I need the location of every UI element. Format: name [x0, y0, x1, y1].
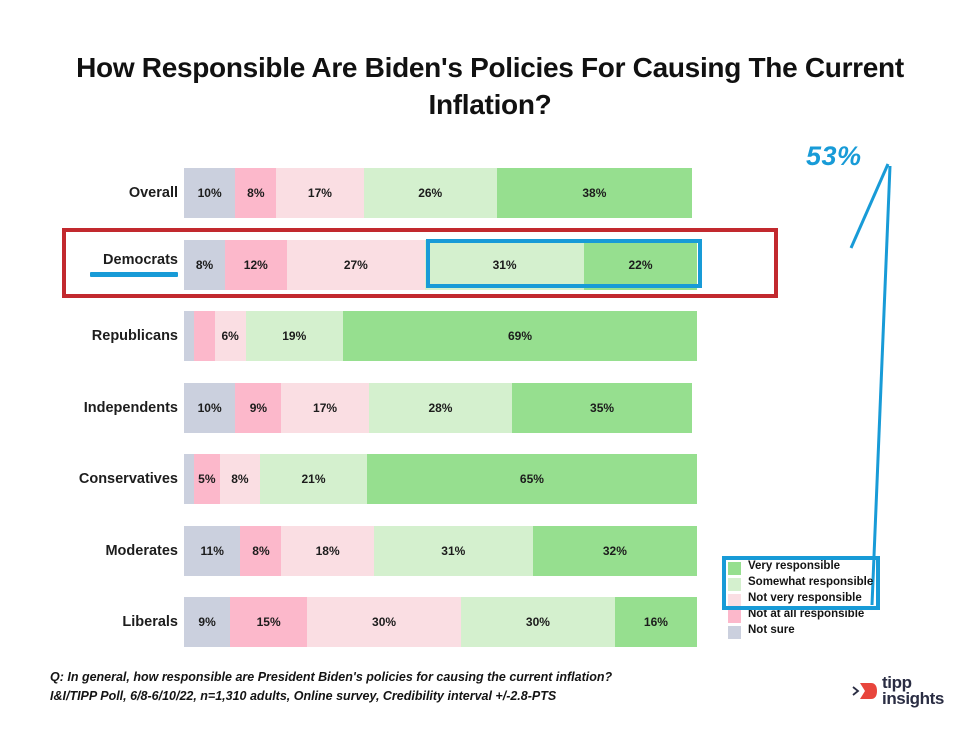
segment-value-label: 31%: [441, 544, 465, 558]
bar-segment-not_very_responsible: 8%: [220, 454, 261, 504]
bar-segment-not_sure: 10%: [184, 168, 235, 218]
chart-container: How Responsible Are Biden's Policies For…: [0, 0, 975, 731]
chart-row: Independents10%9%17%28%35%: [0, 375, 975, 447]
segment-value-label: 11%: [201, 544, 224, 558]
bar-segment-very_responsible: 65%: [367, 454, 697, 504]
legend-swatch-not_at_all_responsible: [728, 610, 741, 623]
segment-value-label: 9%: [198, 615, 215, 629]
segment-value-label: 65%: [520, 472, 544, 486]
legend-item-somewhat_responsible[interactable]: Somewhat responsible: [728, 576, 890, 591]
segment-value-label: 18%: [316, 544, 340, 558]
bar-segment-very_responsible: 35%: [512, 383, 692, 433]
stacked-bar: 9%15%30%30%16%: [184, 597, 697, 647]
bar-segment-very_responsible: 32%: [533, 526, 697, 576]
legend-swatch-somewhat_responsible: [728, 578, 741, 591]
legend-swatch-not_very_responsible: [728, 594, 741, 607]
row-label-text: Liberals: [122, 614, 178, 630]
bar-segment-somewhat_responsible: 31%: [425, 240, 584, 290]
row-label-republicans: Republicans: [0, 311, 178, 361]
page-title: How Responsible Are Biden's Policies For…: [60, 50, 920, 124]
chart-row: Republicans6%19%69%: [0, 303, 975, 375]
segment-value-label: 10%: [198, 401, 222, 415]
bar-segment-very_responsible: 22%: [584, 240, 697, 290]
segment-value-label: 31%: [493, 258, 517, 272]
segment-value-label: 8%: [231, 472, 248, 486]
segment-value-label: 9%: [250, 401, 267, 415]
segment-value-label: 69%: [508, 329, 532, 343]
bar-segment-not_at_all_responsible: 15%: [230, 597, 307, 647]
bar-segment-not_sure: 8%: [184, 240, 225, 290]
row-label-text: Independents: [84, 400, 178, 416]
row-label-underline: [90, 272, 178, 277]
bar-segment-not_at_all_responsible: 5%: [194, 454, 219, 504]
legend-item-very_responsible[interactable]: Very responsible: [728, 560, 890, 575]
bar-segment-not_very_responsible: 17%: [281, 383, 368, 433]
segment-value-label: 12%: [244, 258, 268, 272]
segment-value-label: 6%: [221, 329, 238, 343]
segment-value-label: 16%: [644, 615, 668, 629]
bar-segment-not_sure: 9%: [184, 597, 230, 647]
segment-value-label: 10%: [198, 186, 222, 200]
bar-segment-not_very_responsible: 17%: [276, 168, 363, 218]
row-label-independents: Independents: [0, 383, 178, 433]
bar-segment-not_sure: [184, 311, 194, 361]
bar-segment-not_at_all_responsible: 8%: [235, 168, 276, 218]
bar-segment-not_at_all_responsible: [194, 311, 215, 361]
segment-value-label: 28%: [428, 401, 452, 415]
stacked-bar: 11%8%18%31%32%: [184, 526, 697, 576]
footnote: Q: In general, how responsible are Presi…: [50, 668, 710, 706]
segment-value-label: 35%: [590, 401, 614, 415]
bar-segment-somewhat_responsible: 30%: [461, 597, 615, 647]
segment-value-label: 22%: [629, 258, 653, 272]
bar-segment-somewhat_responsible: 31%: [374, 526, 533, 576]
segment-value-label: 21%: [301, 472, 325, 486]
stacked-bar: 8%12%27%31%22%: [184, 240, 697, 290]
segment-value-label: 5%: [198, 472, 215, 486]
bar-segment-not_very_responsible: 6%: [215, 311, 246, 361]
chart-legend: Very responsibleSomewhat responsibleNot …: [728, 560, 890, 640]
bar-segment-not_at_all_responsible: 9%: [235, 383, 281, 433]
logo-text: tipp insights: [882, 675, 944, 706]
segment-value-label: 17%: [308, 186, 332, 200]
bar-segment-not_very_responsible: 18%: [281, 526, 373, 576]
bar-segment-not_very_responsible: 30%: [307, 597, 461, 647]
bar-segment-somewhat_responsible: 28%: [369, 383, 513, 433]
segment-value-label: 15%: [257, 615, 281, 629]
segment-value-label: 17%: [313, 401, 337, 415]
footnote-source: I&I/TIPP Poll, 6/8-6/10/22, n=1,310 adul…: [50, 687, 710, 706]
segment-value-label: 8%: [247, 186, 264, 200]
row-label-liberals: Liberals: [0, 597, 178, 647]
bar-segment-somewhat_responsible: 26%: [364, 168, 497, 218]
legend-swatch-not_sure: [728, 626, 741, 639]
bar-segment-very_responsible: 38%: [497, 168, 692, 218]
bar-segment-not_sure: [184, 454, 194, 504]
tipp-arrow-icon: [852, 681, 878, 701]
row-label-text: Democrats: [103, 252, 178, 268]
legend-item-not_sure[interactable]: Not sure: [728, 624, 890, 639]
tipp-insights-logo: tipp insights: [852, 675, 944, 706]
row-label-overall: Overall: [0, 168, 178, 218]
segment-value-label: 30%: [372, 615, 396, 629]
row-label-text: Conservatives: [79, 471, 178, 487]
segment-value-label: 8%: [252, 544, 269, 558]
legend-label: Somewhat responsible: [748, 576, 873, 590]
footnote-question: Q: In general, how responsible are Presi…: [50, 668, 710, 687]
stacked-bar: 6%19%69%: [184, 311, 697, 361]
bar-segment-not_very_responsible: 27%: [287, 240, 426, 290]
bar-segment-not_sure: 10%: [184, 383, 235, 433]
segment-value-label: 32%: [603, 544, 627, 558]
row-label-democrats: Democrats: [0, 240, 178, 290]
segment-value-label: 27%: [344, 258, 368, 272]
bar-segment-somewhat_responsible: 21%: [260, 454, 367, 504]
bar-segment-not_at_all_responsible: 12%: [225, 240, 287, 290]
bar-segment-not_at_all_responsible: 8%: [240, 526, 281, 576]
legend-item-not_at_all_responsible[interactable]: Not at all responsible: [728, 608, 890, 623]
segment-value-label: 19%: [282, 329, 306, 343]
row-label-text: Moderates: [105, 543, 178, 559]
row-label-text: Overall: [129, 185, 178, 201]
bar-segment-not_sure: 11%: [184, 526, 240, 576]
legend-label: Not at all responsible: [748, 608, 864, 622]
legend-label: Not sure: [748, 624, 795, 638]
bar-segment-very_responsible: 69%: [343, 311, 697, 361]
stacked-bar: 10%8%17%26%38%: [184, 168, 697, 218]
callout-value-53-percent: 53%: [806, 141, 862, 172]
stacked-bar: 10%9%17%28%35%: [184, 383, 697, 433]
row-label-moderates: Moderates: [0, 526, 178, 576]
bar-segment-very_responsible: 16%: [615, 597, 697, 647]
segment-value-label: 8%: [196, 258, 213, 272]
stacked-bar: 5%8%21%65%: [184, 454, 697, 504]
row-label-text: Republicans: [92, 328, 178, 344]
chart-row: Conservatives5%8%21%65%: [0, 446, 975, 518]
legend-swatch-very_responsible: [728, 562, 741, 575]
legend-label: Not very responsible: [748, 592, 862, 606]
chart-row: Democrats8%12%27%31%22%: [0, 232, 975, 304]
bar-segment-somewhat_responsible: 19%: [246, 311, 343, 361]
row-label-conservatives: Conservatives: [0, 454, 178, 504]
legend-item-not_very_responsible[interactable]: Not very responsible: [728, 592, 890, 607]
logo-line-2: insights: [882, 689, 944, 708]
segment-value-label: 26%: [418, 186, 442, 200]
legend-label: Very responsible: [748, 560, 840, 574]
segment-value-label: 38%: [582, 186, 606, 200]
segment-value-label: 30%: [526, 615, 550, 629]
